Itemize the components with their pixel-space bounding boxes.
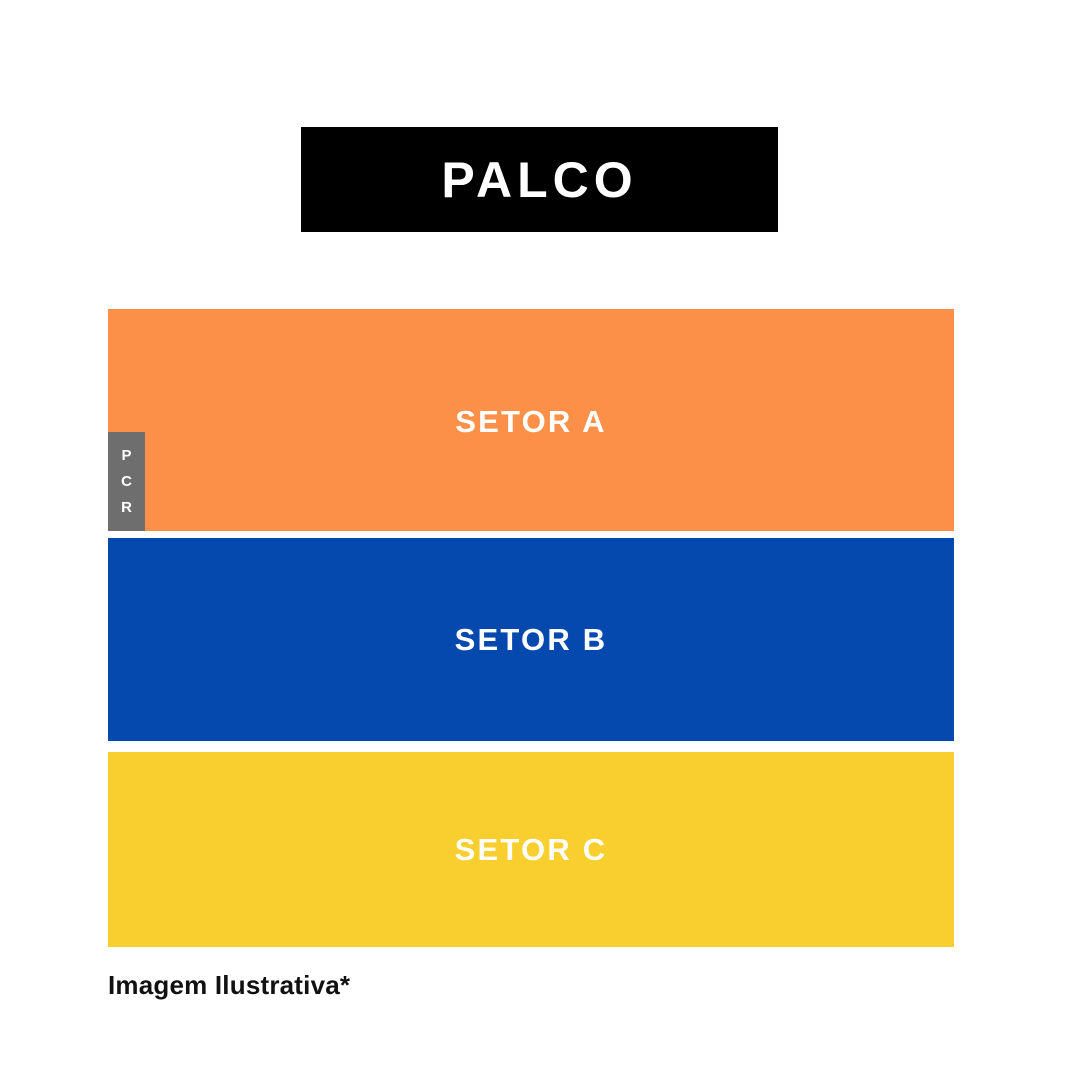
illustrative-image-caption: Imagem Ilustrativa* — [108, 970, 350, 1001]
pcr-letter-r: R — [121, 500, 132, 515]
stage-block[interactable]: PALCO — [301, 127, 778, 232]
sector-label-c: SETOR C — [455, 834, 608, 865]
sector-block-c[interactable]: SETOR C — [108, 752, 954, 947]
sector-label-a: SETOR A — [455, 406, 606, 437]
venue-seating-map: PALCO SETOR A P C R SETOR B SETOR C Imag… — [0, 0, 1080, 1080]
pcr-letter-p: P — [121, 448, 131, 463]
pcr-block[interactable]: P C R — [108, 432, 145, 531]
stage-label: PALCO — [441, 155, 637, 205]
pcr-letter-c: C — [121, 474, 132, 489]
sector-block-a[interactable]: SETOR A P C R — [108, 309, 954, 531]
sector-block-b[interactable]: SETOR B — [108, 538, 954, 741]
sector-label-b: SETOR B — [455, 624, 608, 655]
